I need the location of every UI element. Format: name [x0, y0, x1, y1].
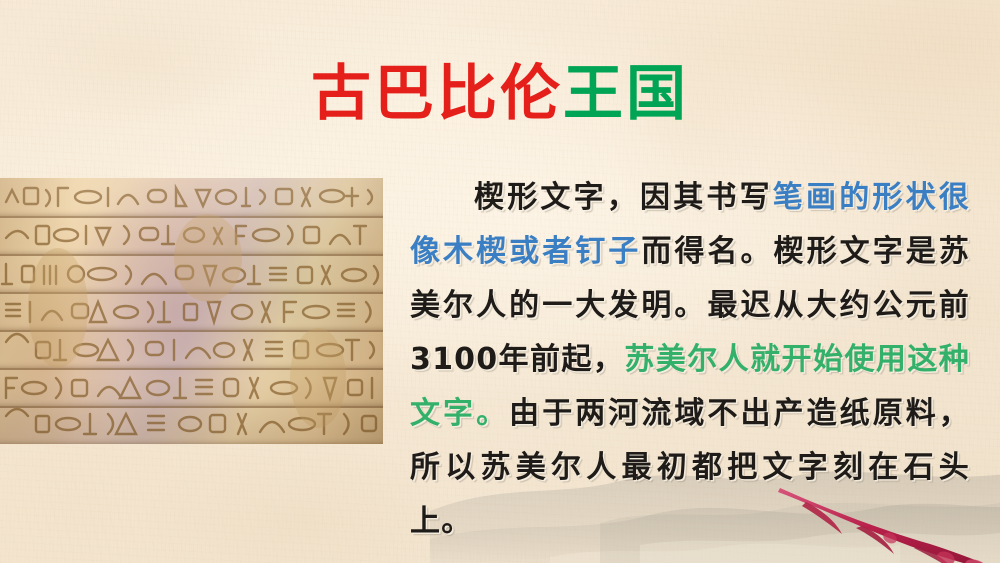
relief-shading-overlay — [0, 178, 383, 444]
page-title-green-part: 王国 — [563, 59, 689, 129]
slide-root: 古巴比伦王国 — [0, 0, 1000, 563]
page-title: 古巴比伦王国 — [0, 58, 1000, 130]
page-title-red-part: 古巴比伦 — [311, 59, 563, 129]
body-segment-dark-1: 楔形文字，因其书写 — [472, 180, 773, 215]
cuneiform-relief-image — [0, 178, 383, 444]
body-paragraph: 楔形文字，因其书写笔画的形状很像木楔或者钉子而得名。楔形文字是苏美尔人的一大发明… — [410, 171, 970, 549]
